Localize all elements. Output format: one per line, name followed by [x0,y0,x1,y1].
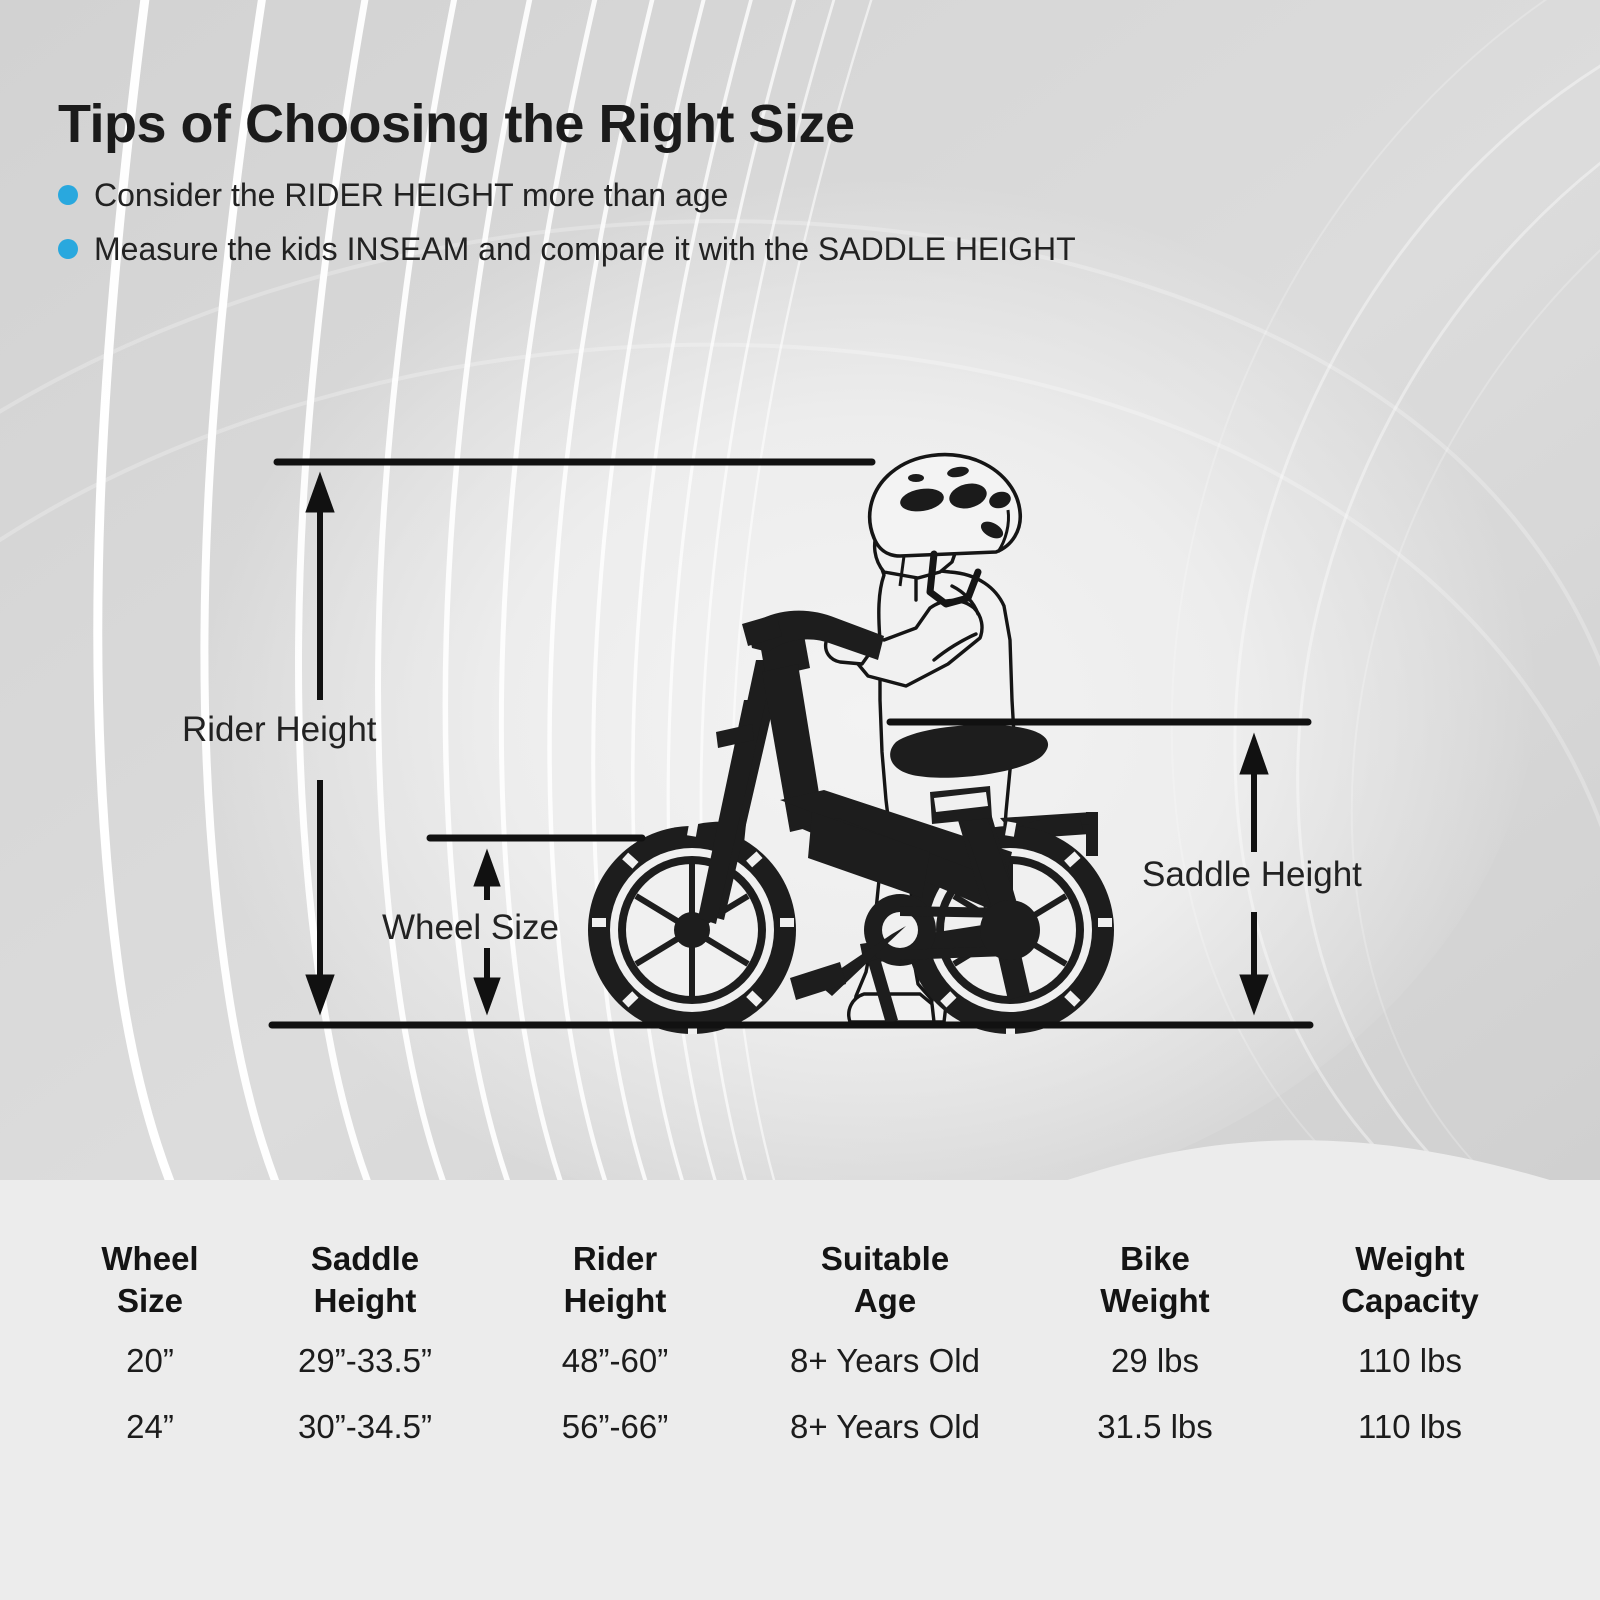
spec-table: Wheel Size Saddle Height Rider Height Su… [60,1222,1540,1459]
column-header-wheel-size: Wheel Size [60,1222,240,1328]
cell-bike-weight: 31.5 lbs [1030,1394,1280,1459]
label-wheel-size: Wheel Size [382,908,559,948]
cell-weight-capacity: 110 lbs [1280,1394,1540,1459]
table-row: 24” 30”-34.5” 56”-66” 8+ Years Old 31.5 … [60,1394,1540,1459]
tip-text: Measure the kids INSEAM and compare it w… [94,229,1076,269]
label-saddle-height: Saddle Height [1142,855,1362,895]
spec-table-section: Wheel Size Saddle Height Rider Height Su… [0,1180,1600,1600]
infographic-page: Tips of Choosing the Right Size Consider… [0,0,1600,1600]
cell-suitable-age: 8+ Years Old [740,1394,1030,1459]
bullet-dot-icon [58,239,78,259]
cell-suitable-age: 8+ Years Old [740,1328,1030,1393]
list-item: Consider the RIDER HEIGHT more than age [58,175,1478,215]
tips-list: Consider the RIDER HEIGHT more than age … [58,175,1478,269]
cell-rider-height: 48”-60” [490,1328,740,1393]
cell-saddle-height: 29”-33.5” [240,1328,490,1393]
column-header-saddle-height: Saddle Height [240,1222,490,1328]
column-header-rider-height: Rider Height [490,1222,740,1328]
column-header-weight-capacity: Weight Capacity [1280,1222,1540,1328]
table-header-row: Wheel Size Saddle Height Rider Height Su… [60,1222,1540,1328]
label-rider-height: Rider Height [182,710,377,750]
header-block: Tips of Choosing the Right Size Consider… [58,96,1478,283]
bullet-dot-icon [58,185,78,205]
cell-wheel-size: 24” [60,1394,240,1459]
column-header-bike-weight: Bike Weight [1030,1222,1280,1328]
cell-saddle-height: 30”-34.5” [240,1394,490,1459]
tip-text: Consider the RIDER HEIGHT more than age [94,175,728,215]
cell-wheel-size: 20” [60,1328,240,1393]
table-row: 20” 29”-33.5” 48”-60” 8+ Years Old 29 lb… [60,1328,1540,1393]
cell-bike-weight: 29 lbs [1030,1328,1280,1393]
page-title: Tips of Choosing the Right Size [58,96,1478,153]
column-header-suitable-age: Suitable Age [740,1222,1030,1328]
child-with-helmet-standing-beside-fat-tire-ebike-icon [588,455,1114,1034]
cell-rider-height: 56”-66” [490,1394,740,1459]
list-item: Measure the kids INSEAM and compare it w… [58,229,1478,269]
cell-weight-capacity: 110 lbs [1280,1328,1540,1393]
